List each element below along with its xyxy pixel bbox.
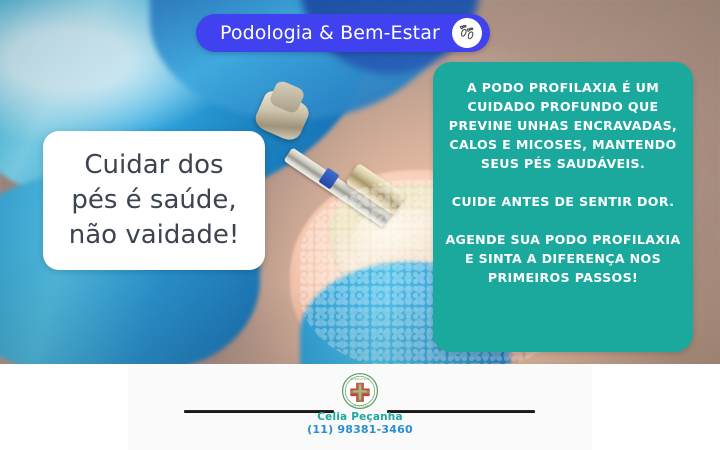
footer: PODOLOGIA BEM-ESTAR Celia Peçanha (11) 9… <box>0 364 720 450</box>
svg-text:BEM-ESTAR: BEM-ESTAR <box>351 404 368 408</box>
footprints-icon <box>452 18 482 48</box>
brand-badge-label: Podologia & Bem-Estar <box>220 22 440 44</box>
headline-line-2: pés é saúde, <box>71 183 236 218</box>
info-box: A PODO PROFILAXIA É UM CUIDADO PROFUNDO … <box>433 62 693 352</box>
footer-brand: PODOLOGIA BEM-ESTAR Celia Peçanha (11) 9… <box>0 372 720 436</box>
headline-line-3: não vaidade! <box>69 218 240 253</box>
headline-card: Cuidar dos pés é saúde, não vaidade! <box>43 131 265 270</box>
brand-name: Celia Peçanha <box>317 411 403 423</box>
headline-line-1: Cuidar dos <box>84 148 223 183</box>
brand-phone[interactable]: (11) 98381-3460 <box>307 423 413 436</box>
green-circle-medical-cross-logo: PODOLOGIA BEM-ESTAR <box>341 372 379 410</box>
promo-canvas: Podologia & Bem-Estar Cuidar dos pés é s… <box>0 0 720 450</box>
info-paragraph-2: CUIDE ANTES DE SENTIR DOR. <box>452 192 675 211</box>
info-paragraph-1: A PODO PROFILAXIA É UM CUIDADO PROFUNDO … <box>445 78 681 173</box>
info-paragraph-3: AGENDE SUA PODO PROFILAXIA E SINTA A DIF… <box>445 230 681 287</box>
svg-text:PODOLOGIA: PODOLOGIA <box>350 377 369 381</box>
brand-badge[interactable]: Podologia & Bem-Estar <box>196 14 490 52</box>
